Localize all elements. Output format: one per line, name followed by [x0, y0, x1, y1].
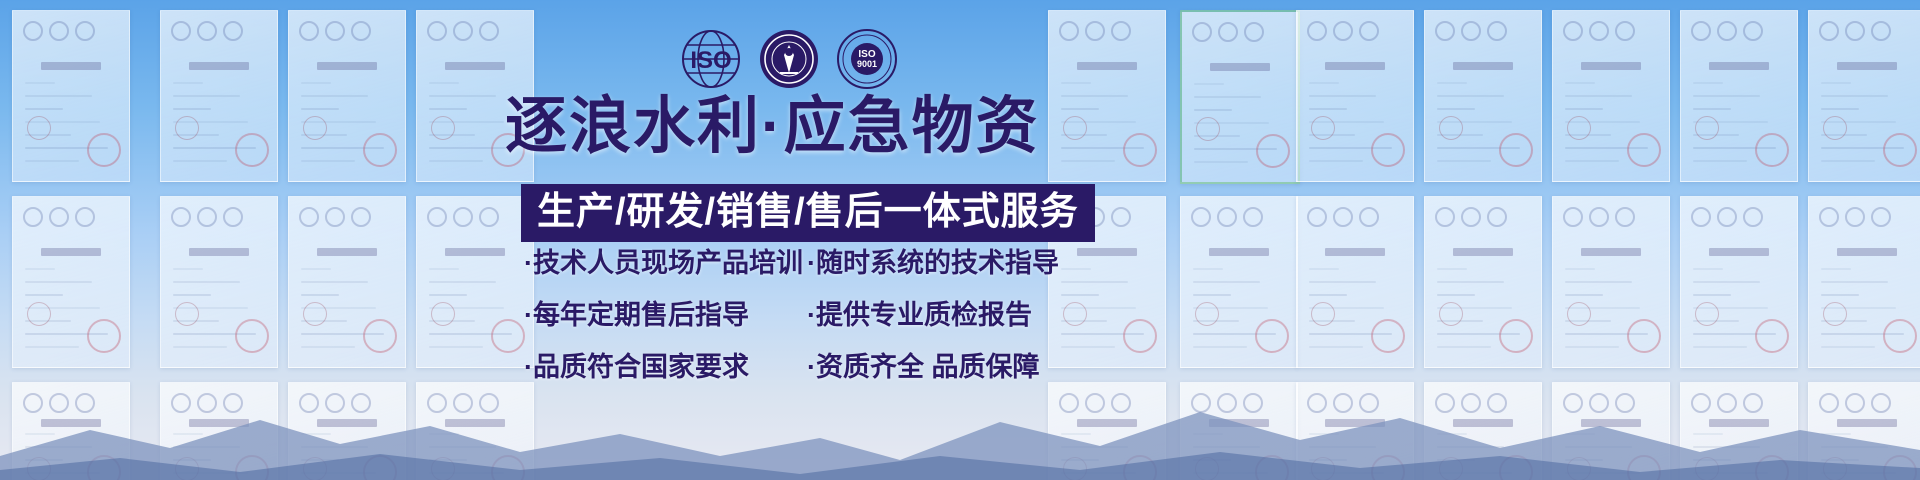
certificate-text-line: [301, 307, 376, 309]
certificate-text-line: [429, 121, 504, 123]
certificate-title-bar: [189, 248, 249, 256]
certificate-text-line: [1821, 320, 1867, 322]
certificate-text-line: [173, 281, 240, 283]
certificate-logo-icon: [1743, 21, 1763, 41]
certificate-logo-icon: [1691, 21, 1711, 41]
certificate-text-line: [301, 281, 368, 283]
certificate-seal-icon: [1371, 133, 1405, 167]
certificate-title-bar: [1709, 62, 1769, 70]
certificate-text-line: [1565, 108, 1603, 110]
certificate-text-line: [1565, 307, 1640, 309]
certificate-text-line: [1437, 281, 1504, 283]
certificate-text-line: [1821, 307, 1896, 309]
certificate-seal-icon: [1627, 133, 1661, 167]
certificate-logo-icon: [1487, 21, 1507, 41]
certificate-logo-icon: [1717, 21, 1737, 41]
certificate-text-line: [1437, 320, 1483, 322]
certificate-text-line: [25, 333, 108, 335]
certificate-text-line: [429, 294, 467, 296]
certificate-logo-icon: [1192, 22, 1212, 42]
certificate-thumbnail: [160, 10, 278, 182]
certificate-title-bar: [1453, 62, 1513, 70]
certificate-title-bar: [317, 248, 377, 256]
certificate-logo-icon: [223, 21, 243, 41]
feature-item: ·每年定期售后指导: [524, 298, 807, 332]
certificate-text-line: [1061, 307, 1136, 309]
certificate-text-line: [301, 268, 331, 270]
certificate-title-bar: [1325, 62, 1385, 70]
certificate-logo-icon: [223, 207, 243, 227]
certificate-text-line: [429, 108, 467, 110]
certificate-thumbnail: [1808, 196, 1920, 368]
certificate-text-line: [1821, 281, 1888, 283]
certificate-text-line: [25, 147, 108, 149]
certificate-text-line: [1565, 268, 1595, 270]
iso-9001-badge: ISO 9001: [836, 28, 898, 90]
certificate-text-line: [1309, 307, 1384, 309]
certificate-text-line: [1821, 121, 1896, 123]
certificate-text-line: [1693, 268, 1723, 270]
certificate-text-line: [301, 134, 347, 136]
certificate-text-line: [301, 108, 339, 110]
certificate-text-line: [173, 268, 203, 270]
certificate-text-line: [1309, 268, 1339, 270]
certificate-logo-icon: [1871, 207, 1891, 227]
certificate-text-line: [1309, 320, 1355, 322]
certificate-thumbnail: [1424, 196, 1542, 368]
certificate-logo-icon: [1085, 21, 1105, 41]
certificate-text-line: [1193, 346, 1247, 348]
certificate-text-line: [25, 82, 55, 84]
certificate-text-line: [429, 147, 512, 149]
certificate-text-line: [1061, 160, 1115, 162]
certificate-text-line: [301, 333, 384, 335]
certificate-text-line: [1061, 333, 1144, 335]
feature-item: ·品质符合国家要求: [524, 350, 807, 384]
certificate-text-line: [1194, 148, 1277, 150]
certificate-title-bar: [189, 62, 249, 70]
certificate-text-line: [25, 320, 71, 322]
certificate-thumbnail: [1424, 10, 1542, 182]
certificate-logo-icon: [1743, 207, 1763, 227]
certificate-text-line: [301, 82, 331, 84]
certificate-text-line: [173, 108, 211, 110]
certificate-thumbnail: [1180, 10, 1300, 184]
certificate-text-line: [301, 320, 347, 322]
certificate-text-line: [1565, 147, 1648, 149]
certificate-text-line: [1194, 122, 1269, 124]
certificate-text-line: [1309, 121, 1384, 123]
certificate-text-line: [1693, 160, 1747, 162]
certificate-text-line: [1565, 95, 1632, 97]
feature-item: ·随时系统的技术指导: [807, 246, 1059, 280]
certificate-logo-icon: [1461, 21, 1481, 41]
certificate-text-line: [1309, 333, 1392, 335]
certificate-logo-icon: [197, 207, 217, 227]
certificate-stamp-icon: [1823, 302, 1847, 326]
certificate-title-bar: [1077, 248, 1137, 256]
certificate-title-bar: [445, 62, 505, 70]
certificate-text-line: [429, 95, 496, 97]
certificate-text-line: [429, 281, 496, 283]
certificate-text-line: [301, 294, 339, 296]
certificate-logo-icon: [1191, 207, 1211, 227]
certificate-text-line: [429, 320, 475, 322]
certificate-logo-icon: [1615, 21, 1635, 41]
certificate-thumbnail: [1296, 196, 1414, 368]
certificate-text-line: [173, 307, 248, 309]
certificate-seal-icon: [1499, 319, 1533, 353]
certificate-text-line: [1693, 294, 1731, 296]
certificate-thumbnail: [1680, 10, 1798, 182]
certificate-title-bar: [1581, 248, 1641, 256]
certification-badges: ISO ISO 9001: [680, 28, 900, 100]
certificate-logo-icon: [1691, 207, 1711, 227]
banner-subtitle-text: 生产/研发/销售/售后一体式服务: [537, 191, 1079, 233]
certificate-text-line: [1193, 294, 1231, 296]
certificate-text-line: [25, 307, 100, 309]
certificate-title-bar: [1837, 62, 1897, 70]
certificate-text-line: [1693, 134, 1739, 136]
certificate-logo-icon: [1359, 21, 1379, 41]
certificate-text-line: [1437, 307, 1512, 309]
certificate-stamp-icon: [431, 302, 455, 326]
certificate-text-line: [1437, 108, 1475, 110]
certificate-text-line: [1565, 294, 1603, 296]
feature-item: ·技术人员现场产品培训: [524, 246, 807, 280]
certificate-seal-icon: [87, 319, 121, 353]
certificate-text-line: [1061, 346, 1115, 348]
certificate-text-line: [301, 147, 384, 149]
certificate-text-line: [1309, 346, 1363, 348]
certification-seal-badge: [758, 28, 820, 90]
certificate-text-line: [173, 121, 248, 123]
certificate-title-bar: [1077, 62, 1137, 70]
certificate-seal-icon: [1627, 319, 1661, 353]
certificate-thumbnail: [288, 196, 406, 368]
certificate-text-line: [1309, 82, 1339, 84]
certificate-text-line: [173, 82, 203, 84]
certificate-seal-icon: [87, 133, 121, 167]
certificate-logo-icon: [75, 207, 95, 227]
certificate-text-line: [1821, 333, 1904, 335]
certificate-text-line: [1437, 134, 1483, 136]
certificate-text-line: [1437, 160, 1491, 162]
certificate-text-line: [429, 307, 504, 309]
svg-text:9001: 9001: [857, 59, 877, 69]
certificate-logo-icon: [1059, 21, 1079, 41]
certificate-text-line: [1194, 96, 1261, 98]
certificate-text-line: [173, 95, 240, 97]
certificate-logo-icon: [23, 207, 43, 227]
certificate-text-line: [1309, 160, 1363, 162]
certificate-stamp-icon: [1695, 116, 1719, 140]
certificate-text-line: [1193, 333, 1276, 335]
certificate-thumbnail: [12, 10, 130, 182]
feature-item: ·资质齐全 品质保障: [807, 350, 1040, 384]
certificate-logo-icon: [1563, 207, 1583, 227]
certificate-text-line: [1061, 281, 1128, 283]
certificate-text-line: [1061, 82, 1091, 84]
certificate-text-line: [1693, 82, 1723, 84]
certificate-logo-icon: [1845, 21, 1865, 41]
certificate-text-line: [1693, 320, 1739, 322]
certificate-logo-icon: [1218, 22, 1238, 42]
certificate-text-line: [1194, 83, 1224, 85]
certificate-text-line: [25, 281, 92, 283]
certificate-text-line: [1565, 134, 1611, 136]
certificate-text-line: [1437, 346, 1491, 348]
certificate-text-line: [1693, 95, 1760, 97]
certificate-text-line: [173, 160, 227, 162]
certificate-title-bar: [1453, 248, 1513, 256]
certificate-text-line: [25, 294, 63, 296]
banner-headline: 逐浪水利·应急物资: [505, 96, 1105, 158]
certificate-text-line: [1821, 108, 1859, 110]
certificate-text-line: [25, 95, 92, 97]
certificate-title-bar: [317, 62, 377, 70]
certificate-logo-icon: [325, 207, 345, 227]
certificate-logo-icon: [325, 21, 345, 41]
certificate-text-line: [1565, 121, 1640, 123]
certificate-text-line: [173, 320, 219, 322]
certificate-text-line: [1194, 109, 1232, 111]
certificate-title-bar: [41, 62, 101, 70]
iso-globe-badge: ISO: [680, 28, 742, 90]
certificate-stamp-icon: [303, 302, 327, 326]
certificate-text-line: [1821, 294, 1859, 296]
certificate-logo-icon: [1111, 207, 1131, 227]
certificate-logo-icon: [1717, 207, 1737, 227]
certificate-text-line: [1821, 95, 1888, 97]
certificate-text-line: [25, 134, 71, 136]
certificate-stamp-icon: [1196, 117, 1220, 141]
certificate-text-line: [429, 160, 483, 162]
certificate-title-bar: [445, 248, 505, 256]
feature-row: ·品质符合国家要求 ·资质齐全 品质保障: [524, 350, 1069, 384]
feature-item: ·提供专业质检报告: [807, 298, 1032, 332]
certificate-logo-icon: [49, 207, 69, 227]
certificate-text-line: [1194, 135, 1240, 137]
certificate-logo-icon: [1615, 207, 1635, 227]
certificate-logo-icon: [351, 207, 371, 227]
certificate-logo-icon: [1307, 207, 1327, 227]
certificate-logo-icon: [299, 21, 319, 41]
certificate-text-line: [1193, 268, 1223, 270]
certificate-title-bar: [1837, 248, 1897, 256]
certificate-thumbnail: [1552, 10, 1670, 182]
certificate-text-line: [25, 268, 55, 270]
certificate-text-line: [1821, 268, 1851, 270]
certificate-stamp-icon: [1311, 116, 1335, 140]
certificate-seal-icon: [363, 319, 397, 353]
certificate-seal-icon: [1755, 133, 1789, 167]
certificate-logo-icon: [1243, 207, 1263, 227]
certificate-text-line: [1193, 307, 1268, 309]
certificate-text-line: [1437, 294, 1475, 296]
certificate-logo-icon: [479, 207, 499, 227]
certificate-text-line: [25, 108, 63, 110]
certificate-text-line: [301, 346, 355, 348]
certificate-logo-icon: [1871, 21, 1891, 41]
certificate-text-line: [173, 346, 227, 348]
certificate-logo-icon: [1217, 207, 1237, 227]
certificate-text-line: [1565, 281, 1632, 283]
certificate-text-line: [1437, 268, 1467, 270]
certificate-text-line: [1821, 147, 1904, 149]
certificate-logo-icon: [23, 21, 43, 41]
certificate-thumbnail: [416, 196, 534, 368]
certificate-text-line: [173, 333, 256, 335]
certificate-text-line: [429, 134, 475, 136]
certificate-logo-icon: [1487, 207, 1507, 227]
certificate-stamp-icon: [27, 116, 51, 140]
certificate-stamp-icon: [1311, 302, 1335, 326]
certificate-logo-icon: [1435, 207, 1455, 227]
certificate-text-line: [1565, 333, 1648, 335]
certificate-logo-icon: [171, 21, 191, 41]
certificate-logo-icon: [75, 21, 95, 41]
certificate-text-line: [1693, 108, 1731, 110]
certificate-text-line: [25, 160, 79, 162]
certificate-text-line: [1309, 281, 1376, 283]
certificate-logo-icon: [1819, 21, 1839, 41]
certificate-text-line: [301, 95, 368, 97]
certificate-text-line: [1821, 160, 1875, 162]
certificate-text-line: [173, 294, 211, 296]
certificate-seal-icon: [1883, 133, 1917, 167]
certificate-text-line: [1821, 134, 1867, 136]
certificate-text-line: [1193, 320, 1239, 322]
promo-banner: ISO ISO 9001 逐浪水利·应急物资: [0, 0, 1920, 480]
certificate-title-bar: [41, 248, 101, 256]
banner-subtitle-bar: 生产/研发/销售/售后一体式服务: [521, 184, 1095, 242]
certificate-text-line: [1194, 161, 1248, 163]
certificate-stamp-icon: [1439, 116, 1463, 140]
certificate-thumbnail: [1180, 196, 1298, 368]
certificate-text-line: [1437, 95, 1504, 97]
certificate-seal-icon: [1371, 319, 1405, 353]
certificate-text-line: [1309, 108, 1347, 110]
certificate-stamp-icon: [1695, 302, 1719, 326]
certificate-text-line: [173, 147, 256, 149]
certificate-text-line: [1693, 307, 1768, 309]
certificate-logo-icon: [1563, 21, 1583, 41]
certificate-logo-icon: [1845, 207, 1865, 227]
certificate-title-bar: [1210, 63, 1270, 71]
certificate-logo-icon: [1359, 207, 1379, 227]
certificate-title-bar: [1325, 248, 1385, 256]
certificate-logo-icon: [453, 207, 473, 227]
certificate-text-line: [429, 268, 459, 270]
certificate-seal-icon: [363, 133, 397, 167]
certificate-logo-icon: [479, 21, 499, 41]
certificate-logo-icon: [453, 21, 473, 41]
certificate-stamp-icon: [1823, 116, 1847, 140]
certificate-text-line: [301, 160, 355, 162]
certificate-seal-icon: [1123, 319, 1157, 353]
certificate-logo-icon: [427, 21, 447, 41]
certificate-title-bar: [1209, 248, 1269, 256]
certificate-title-bar: [1581, 62, 1641, 70]
certificate-text-line: [1693, 121, 1768, 123]
certificate-stamp-icon: [1195, 302, 1219, 326]
certificate-seal-icon: [1883, 319, 1917, 353]
certificate-logo-icon: [1435, 21, 1455, 41]
certificate-text-line: [1309, 134, 1355, 136]
certificate-logo-icon: [1244, 22, 1264, 42]
svg-text:ISO: ISO: [690, 47, 731, 74]
certificate-text-line: [1309, 95, 1376, 97]
certificate-thumbnail: [12, 196, 130, 368]
certificate-seal-icon: [1123, 133, 1157, 167]
certificate-logo-icon: [197, 21, 217, 41]
certificate-text-line: [25, 346, 79, 348]
certificate-text-line: [1565, 320, 1611, 322]
certificate-stamp-icon: [1567, 302, 1591, 326]
certificate-text-line: [1437, 147, 1520, 149]
feature-row: ·每年定期售后指导 ·提供专业质检报告: [524, 298, 1069, 332]
certificate-logo-icon: [351, 21, 371, 41]
certificate-thumbnail: [1680, 196, 1798, 368]
feature-row: ·技术人员现场产品培训 ·随时系统的技术指导: [524, 246, 1069, 280]
certificate-logo-icon: [171, 207, 191, 227]
certificate-text-line: [1693, 346, 1747, 348]
certificate-thumbnail: [160, 196, 278, 368]
certificate-logo-icon: [1307, 21, 1327, 41]
certificate-text-line: [429, 346, 483, 348]
certificate-title-bar: [1709, 248, 1769, 256]
certificate-logo-icon: [427, 207, 447, 227]
service-feature-list: ·技术人员现场产品培训 ·随时系统的技术指导 ·每年定期售后指导 ·提供专业质检…: [524, 246, 1069, 402]
certificate-logo-icon: [1461, 207, 1481, 227]
certificate-text-line: [173, 134, 219, 136]
certificate-stamp-icon: [1567, 116, 1591, 140]
certificate-stamp-icon: [175, 302, 199, 326]
certificate-stamp-icon: [303, 116, 327, 140]
certificate-thumbnail: [1808, 10, 1920, 182]
certificate-text-line: [1565, 82, 1595, 84]
certificate-logo-icon: [1819, 207, 1839, 227]
certificate-seal-icon: [491, 319, 525, 353]
certificate-text-line: [25, 121, 100, 123]
certificate-seal-icon: [1256, 134, 1290, 168]
certificate-seal-icon: [235, 133, 269, 167]
certificate-text-line: [1693, 147, 1776, 149]
certificate-logo-icon: [1111, 21, 1131, 41]
certificate-text-line: [1693, 333, 1776, 335]
certificate-logo-icon: [1589, 21, 1609, 41]
certificate-text-line: [429, 82, 459, 84]
certificate-stamp-icon: [1439, 302, 1463, 326]
certificate-text-line: [301, 121, 376, 123]
certificate-stamp-icon: [27, 302, 51, 326]
certificate-seal-icon: [1255, 319, 1289, 353]
certificate-text-line: [1437, 121, 1512, 123]
certificate-text-line: [1437, 82, 1467, 84]
certificate-stamp-icon: [175, 116, 199, 140]
certificate-logo-icon: [1589, 207, 1609, 227]
certificate-logo-icon: [1333, 21, 1353, 41]
certificate-logo-icon: [1333, 207, 1353, 227]
certificate-seal-icon: [1755, 319, 1789, 353]
certificate-text-line: [1565, 346, 1619, 348]
certificate-logo-icon: [49, 21, 69, 41]
certificate-text-line: [1565, 160, 1619, 162]
certificate-thumbnail: [288, 10, 406, 182]
certificate-text-line: [1309, 294, 1347, 296]
certificate-text-line: [1821, 82, 1851, 84]
